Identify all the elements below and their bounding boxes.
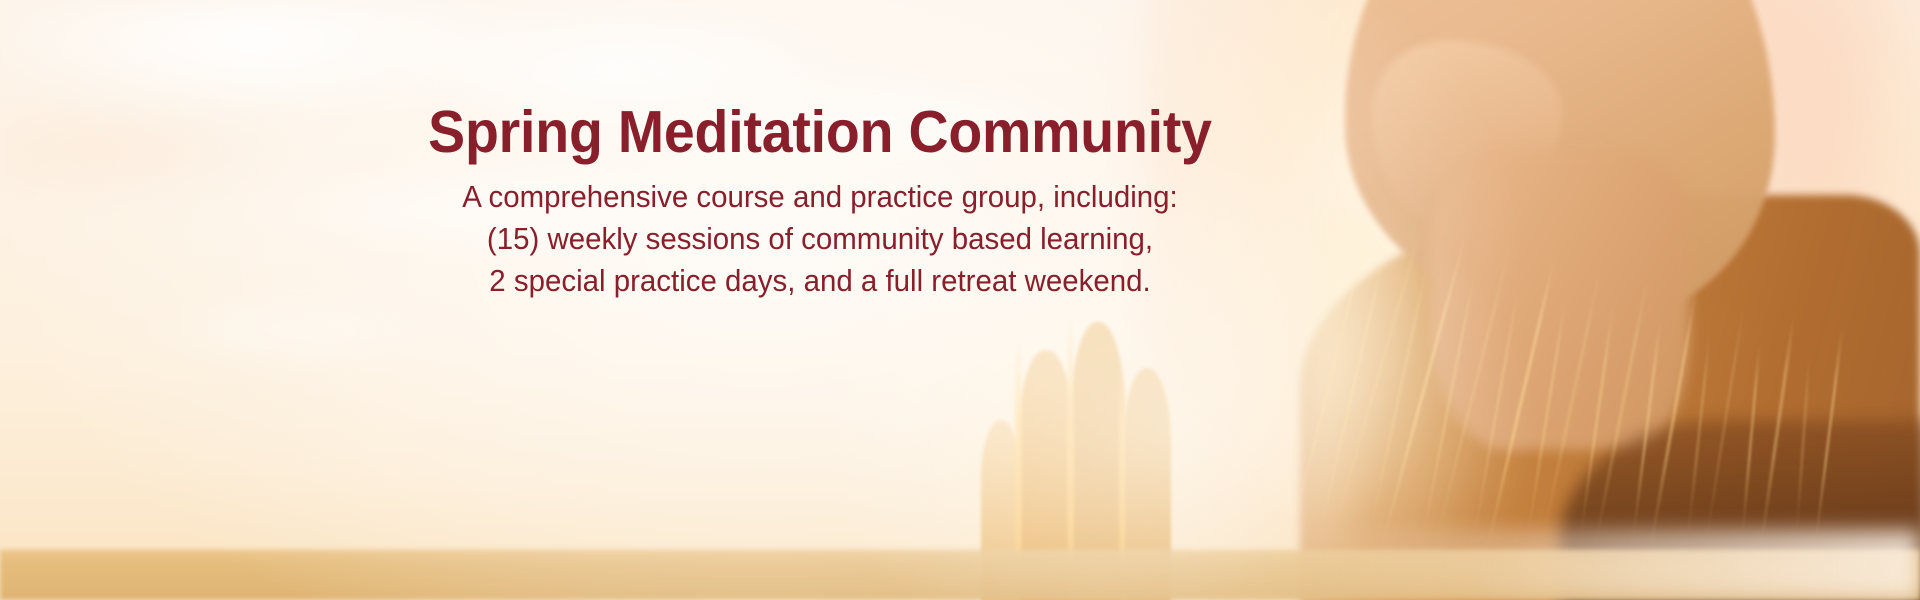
hero-banner: Spring Meditation Community A comprehens… bbox=[0, 0, 1920, 600]
banner-text-block: Spring Meditation Community A comprehens… bbox=[0, 103, 1640, 302]
banner-title: Spring Meditation Community bbox=[49, 103, 1591, 162]
horizon-fade bbox=[1280, 530, 1920, 600]
banner-subtitle-line-1: A comprehensive course and practice grou… bbox=[41, 176, 1599, 218]
banner-subtitle-line-3: 2 special practice days, and a full retr… bbox=[41, 260, 1599, 302]
banner-subtitle-line-2: (15) weekly sessions of community based … bbox=[41, 218, 1599, 260]
